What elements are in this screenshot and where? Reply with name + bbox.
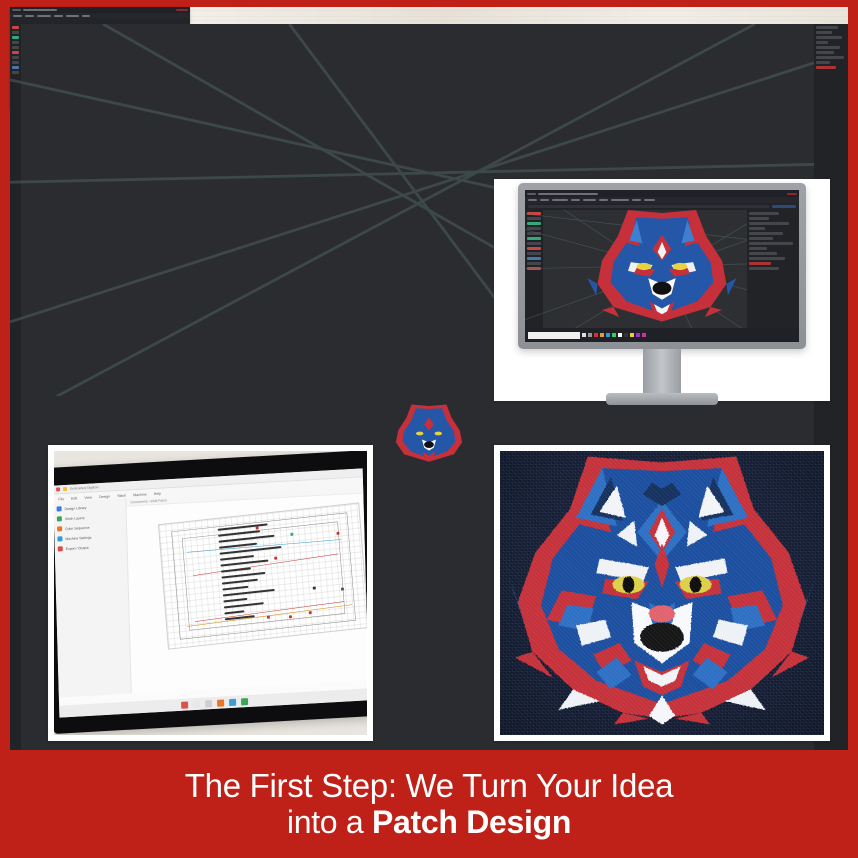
- artwork-on-canvas: [586, 210, 738, 328]
- monitor-neck: [643, 349, 681, 395]
- banner-line-2: into a Patch Design: [287, 806, 571, 840]
- taskbar-app-icon[interactable]: [216, 699, 223, 706]
- panel-finished-patch-image: [500, 451, 824, 735]
- banner-line-1: The First Step: We Turn Your Idea: [185, 769, 673, 804]
- app-title-bar: [23, 9, 57, 11]
- monitor-statusbar[interactable]: [525, 328, 799, 342]
- monitor-base: [606, 393, 718, 405]
- sidebar-item-stitch-layers[interactable]: Stitch Layers: [57, 513, 123, 522]
- window-close-icon[interactable]: [56, 487, 60, 491]
- laptop-device: Embroidery Digitizer File Edit View Desi…: [54, 451, 367, 734]
- monitor-app-titlebar: [525, 190, 799, 197]
- menu-item-file[interactable]: File: [58, 497, 64, 501]
- gear-icon: [57, 536, 62, 541]
- monitor-canvas[interactable]: [525, 210, 799, 328]
- guide-lines: [10, 24, 190, 109]
- taskbar-app-icon[interactable]: [181, 701, 188, 708]
- export-icon: [58, 546, 63, 551]
- embroidery-canvas[interactable]: Documents › Wolf Patch: [126, 485, 367, 693]
- embroidery-app-title: Embroidery Digitizer: [70, 485, 99, 491]
- bottom-banner: The First Step: We Turn Your Idea into a…: [0, 750, 858, 858]
- wolf-vector-artwork-icon: [586, 210, 738, 325]
- laptop-screen[interactable]: Embroidery Digitizer File Edit View Desi…: [54, 468, 367, 717]
- banner-line-2-bold: Patch Design: [372, 804, 571, 840]
- panel-design-software-window: [10, 7, 190, 109]
- menu-item[interactable]: [13, 15, 22, 17]
- embroidery-workspace: Design Library Stitch Layers Color Seque…: [54, 485, 367, 697]
- sidebar-item-label: Design Library: [65, 505, 87, 510]
- panel-embroidery-software-image: Embroidery Digitizer File Edit View Desi…: [54, 451, 367, 735]
- menu-item-machine[interactable]: Machine: [133, 492, 147, 497]
- monitor-screen[interactable]: [525, 190, 799, 342]
- menu-item-design[interactable]: Design: [99, 494, 110, 499]
- layers-icon: [57, 516, 62, 521]
- poster-canvas: Gather Client's Requirement Digitizing A…: [0, 0, 858, 858]
- sidebar-item-label: Export / Output: [66, 545, 89, 550]
- menu-item-edit[interactable]: Edit: [71, 496, 77, 500]
- sidebar-item-machine-settings[interactable]: Machine Settings: [57, 533, 123, 542]
- sidebar-item-label: Machine Settings: [65, 535, 91, 540]
- menu-item-view[interactable]: View: [84, 495, 92, 499]
- monitor-bezel: [518, 183, 806, 349]
- menu-item[interactable]: [25, 15, 34, 17]
- palette-icon: [57, 526, 62, 531]
- laptop-photo: Embroidery Digitizer File Edit View Desi…: [54, 451, 367, 735]
- window-minimize-icon[interactable]: [63, 487, 67, 491]
- menu-item-stitch[interactable]: Stitch: [117, 493, 126, 498]
- menu-item[interactable]: [54, 15, 63, 17]
- taskbar-app-icon[interactable]: [228, 698, 235, 705]
- sidebar-item-color-sequence[interactable]: Color Sequence: [57, 523, 123, 532]
- properties-panel-right[interactable]: [747, 210, 799, 328]
- library-icon: [57, 506, 62, 511]
- menu-item[interactable]: [37, 15, 51, 17]
- window-close-icon[interactable]: [176, 9, 188, 11]
- software-canvas[interactable]: [10, 24, 190, 109]
- panel-embroidery-software: Embroidery Digitizer File Edit View Desi…: [48, 445, 373, 741]
- window-close-icon[interactable]: [787, 193, 797, 195]
- wolf-patch-icon: [509, 457, 815, 725]
- sidebar-item-design-library[interactable]: Design Library: [57, 503, 123, 512]
- stitch-map-view[interactable]: [158, 502, 367, 649]
- menu-item-help[interactable]: Help: [154, 491, 162, 495]
- sidebar-item-label: Color Sequence: [65, 525, 89, 530]
- taskbar-app-icon[interactable]: [205, 700, 212, 707]
- panel-monitor: [494, 183, 830, 425]
- panel-finished-patch: [494, 445, 830, 741]
- menu-item[interactable]: [66, 15, 79, 17]
- embroidery-sidebar[interactable]: Design Library Stitch Layers Color Seque…: [54, 499, 132, 698]
- embroidered-wolf-patch: [509, 457, 815, 730]
- app-icon: [12, 9, 21, 11]
- banner-line-2-prefix: into a: [287, 804, 372, 840]
- taskbar-app-icon[interactable]: [193, 700, 200, 707]
- status-field[interactable]: [528, 332, 580, 339]
- sidebar-item-label: Stitch Layers: [65, 515, 85, 520]
- menu-item[interactable]: [82, 15, 90, 17]
- taskbar-app-icon[interactable]: [240, 698, 247, 705]
- sidebar-item-export-output[interactable]: Export / Output: [58, 543, 124, 552]
